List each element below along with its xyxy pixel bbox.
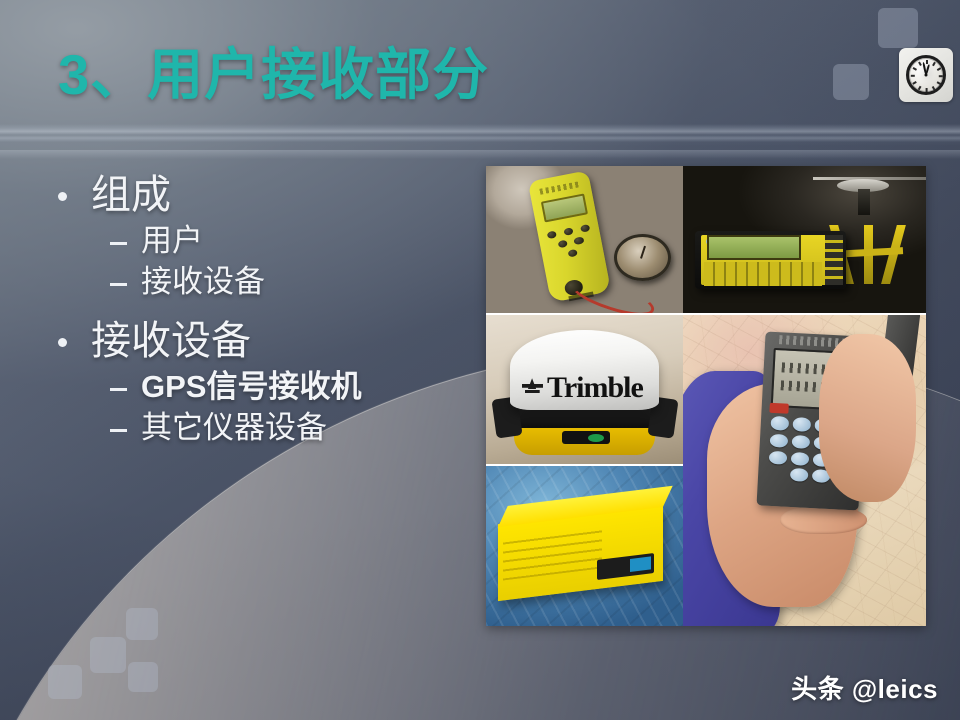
- decor-square-top-right-1: [878, 8, 918, 48]
- bullet-dash-icon: [110, 388, 127, 391]
- antenna-port: [562, 431, 610, 444]
- antenna-white-dome: Trimble: [510, 330, 660, 410]
- photo-trimble-antenna: Trimble: [486, 315, 683, 464]
- bullet-level2-label: 其它仪器设备: [141, 409, 327, 447]
- decor-square-top-right-2: [833, 64, 869, 100]
- bullet-level2-label: 用户: [141, 222, 203, 260]
- bullet-dash-icon: [110, 242, 127, 245]
- bullet-dash-icon: [110, 283, 127, 286]
- slide-title: 3、用户接收部分: [58, 46, 489, 105]
- gps-controller-unit: [695, 231, 846, 290]
- watermark: 头条 @leics: [791, 669, 938, 706]
- gps-lcd-screen: [541, 194, 588, 223]
- photo-yellow-controller-tripod: [683, 166, 926, 313]
- slide-body: 组成 用户 接收设备 接收设备 GPS信号接收机 其它仪器设备: [44, 172, 474, 450]
- photo-yellow-transport-case: [486, 466, 683, 626]
- decor-square-bottom-left-2: [90, 637, 126, 673]
- photo-handheld-gps-on-rocks: [486, 166, 683, 313]
- title-divider-band: [0, 124, 960, 146]
- presentation-slide: 3、用户接收部分 组成 用户 接收设备 接收设备 GPS信号接收机 其它仪器设备: [0, 0, 960, 720]
- gps-keypad: [545, 222, 600, 277]
- clock-dial-icon: [899, 48, 953, 102]
- title-divider-band-secondary: [0, 150, 960, 159]
- bullet-dot-icon: [58, 192, 67, 201]
- decor-square-bottom-left-1: [48, 665, 82, 699]
- dial-face: [906, 55, 946, 95]
- bullet-level2-label: 接收设备: [141, 263, 265, 301]
- controller-keyboard: [704, 262, 822, 286]
- bullet-dash-icon: [110, 429, 127, 432]
- bullet-level2: GPS信号接收机: [44, 368, 474, 406]
- trimble-logo-icon: [522, 375, 543, 396]
- photo-collage: Trimble: [486, 166, 926, 626]
- bullet-level2: 其它仪器设备: [44, 409, 474, 447]
- bullet-level1: 组成: [44, 172, 474, 219]
- bullet-level2: 接收设备: [44, 263, 474, 301]
- trimble-wordmark: Trimble: [547, 373, 652, 397]
- compass-instrument: [614, 234, 671, 281]
- hand-upper: [819, 334, 916, 502]
- decor-square-bottom-left-3: [128, 662, 158, 692]
- bullet-dot-icon: [58, 338, 67, 347]
- bullet-level1-label: 组成: [91, 172, 171, 219]
- bullet-level1: 接收设备: [44, 318, 474, 365]
- bullet-level1-label: 接收设备: [91, 318, 251, 365]
- bullet-level2-label: GPS信号接收机: [141, 368, 361, 406]
- decor-square-bottom-left-4: [126, 608, 158, 640]
- receiver-power-key: [769, 403, 788, 413]
- bullet-group-spacer: [44, 304, 474, 318]
- case-label-plate: [597, 553, 653, 580]
- photo-hand-held-receiver-map: [683, 315, 926, 626]
- bullet-level2: 用户: [44, 222, 474, 260]
- controller-display: [707, 235, 800, 260]
